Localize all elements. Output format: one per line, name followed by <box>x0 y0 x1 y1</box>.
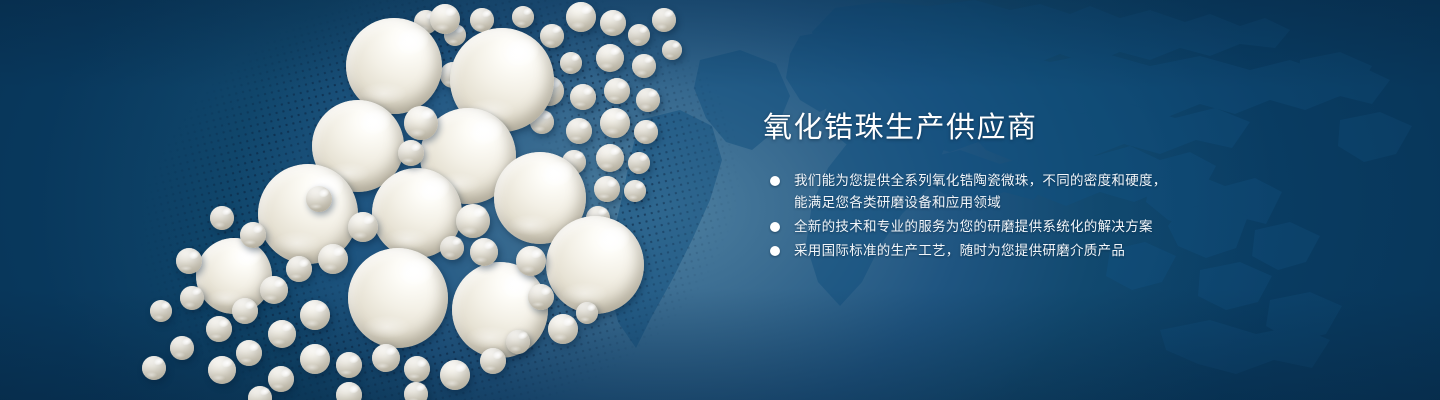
list-item: 全新的技术和专业的服务为您的研磨提供系统化的解决方案 <box>766 216 1236 238</box>
bullet-dot-icon <box>770 222 780 232</box>
page-title: 氧化锆珠生产供应商 <box>763 110 1038 146</box>
bullet-text-line1: 全新的技术和专业的服务为您的研磨提供系统化的解决方案 <box>794 219 1153 234</box>
feature-bullet-list: 我们能为您提供全系列氧化锆陶瓷微珠，不同的密度和硬度， 能满足您各类研磨设备和应… <box>766 170 1236 264</box>
hero-content: 氧化锆珠生产供应商 我们能为您提供全系列氧化锆陶瓷微珠，不同的密度和硬度， 能满… <box>760 0 1320 400</box>
bullet-text-line1: 我们能为您提供全系列氧化锆陶瓷微珠，不同的密度和硬度， <box>794 173 1167 188</box>
list-item: 我们能为您提供全系列氧化锆陶瓷微珠，不同的密度和硬度， 能满足您各类研磨设备和应… <box>766 170 1236 214</box>
list-item: 采用国际标准的生产工艺，随时为您提供研磨介质产品 <box>766 240 1236 262</box>
hero-banner: 氧化锆珠生产供应商 我们能为您提供全系列氧化锆陶瓷微珠，不同的密度和硬度， 能满… <box>0 0 1440 400</box>
bullet-dot-icon <box>770 176 780 186</box>
bullet-text-line1: 采用国际标准的生产工艺，随时为您提供研磨介质产品 <box>794 243 1125 258</box>
bullet-text-line2: 能满足您各类研磨设备和应用领域 <box>794 192 1236 214</box>
bullet-dot-icon <box>770 246 780 256</box>
zirconia-beads-cluster-image <box>0 0 780 400</box>
